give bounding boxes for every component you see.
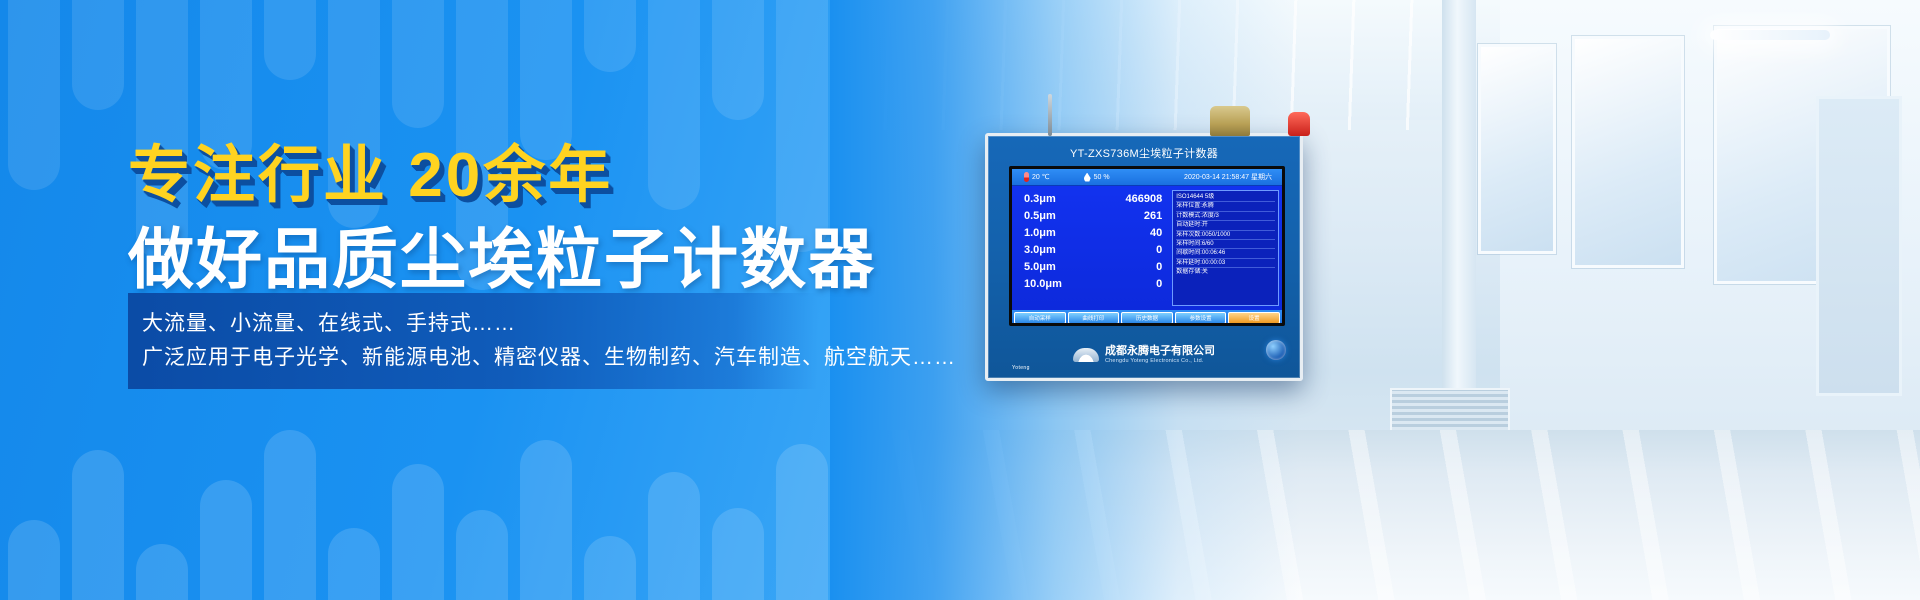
- headline-primary: 专注行业 20余年: [128, 124, 613, 214]
- subtitle-bar: 大流量、小流量、在线式、手持式…… 广泛应用于电子光学、新能源电池、精密仪器、生…: [128, 293, 818, 389]
- channel-size: 3.0μm: [1024, 244, 1096, 256]
- headline-secondary: 做好品质尘埃粒子计数器: [128, 206, 876, 302]
- channel-size: 5.0μm: [1024, 261, 1096, 273]
- channel-value: 40: [1096, 227, 1170, 239]
- yoteng-logo-icon: [1073, 348, 1099, 362]
- screen-button-curve-print[interactable]: 曲线打印: [1068, 312, 1120, 324]
- alarm-lamp-icon: [1288, 112, 1310, 136]
- water-drop-icon: [1084, 173, 1091, 182]
- humidity-status: 50 %: [1084, 173, 1110, 182]
- device-brand: 成都永腾电子有限公司 Chengdu Yoteng Electronics Co…: [988, 345, 1300, 364]
- temperature-status: 20 ℃: [1024, 172, 1050, 182]
- humidity-value: 50 %: [1094, 174, 1110, 181]
- brand-text-block: 成都永腾电子有限公司 Chengdu Yoteng Electronics Co…: [1105, 345, 1215, 364]
- device-screen[interactable]: 20 ℃ 50 % 2020-03-14 21:58:47 星期六 0.3μm …: [1009, 166, 1285, 326]
- channel-value: 0: [1096, 278, 1170, 290]
- hero-banner: 专注行业 20余年 做好品质尘埃粒子计数器 大流量、小流量、在线式、手持式…… …: [0, 0, 1920, 600]
- device-model-title: YT-ZXS736M尘埃粒子计数器: [988, 145, 1300, 161]
- screen-button-auto-sample[interactable]: 自动采样: [1014, 312, 1066, 324]
- photo-ceiling-lamp: [1710, 30, 1830, 40]
- channel-value: 466908: [1096, 193, 1170, 205]
- temperature-value: 20 ℃: [1032, 173, 1050, 181]
- parameter-row: 采样时间:6/60: [1176, 240, 1275, 249]
- brand-name-cn: 成都永腾电子有限公司: [1105, 345, 1215, 358]
- sensor-probe-icon: [1210, 106, 1250, 136]
- antenna-icon: [1048, 94, 1052, 136]
- photo-door-frame: [1816, 96, 1902, 396]
- channel-row: 0.3μm 466908: [1024, 193, 1170, 210]
- parameter-row: 计数模式:浓度/฀3: [1176, 212, 1275, 221]
- parameter-panel: ISO14644 5级 采样位置:永腾 计数模式:浓度/฀3 自动延时:开 采样…: [1172, 190, 1279, 306]
- datetime-status: 2020-03-14 21:58:47 星期六: [1184, 172, 1272, 182]
- screen-button-history-data[interactable]: 历史数据: [1121, 312, 1173, 324]
- channel-row: 5.0μm 0: [1024, 261, 1170, 278]
- channel-value: 0: [1096, 261, 1170, 273]
- brand-logo-text: Yoteng: [1012, 365, 1030, 371]
- parameter-row: 间歇时间:00:06:46: [1176, 249, 1275, 258]
- screen-status-bar: 20 ℃ 50 % 2020-03-14 21:58:47 星期六: [1012, 169, 1282, 186]
- channel-row: 1.0μm 40: [1024, 227, 1170, 244]
- channel-value: 0: [1096, 244, 1170, 256]
- parameter-row: 采样延时:00:00:03: [1176, 259, 1275, 268]
- screen-button-parameter-config[interactable]: 参数设置: [1175, 312, 1227, 324]
- parameter-row: 数据存储:关: [1176, 268, 1275, 276]
- channel-size: 0.3μm: [1024, 193, 1096, 205]
- screen-button-bar: 自动采样 曲线打印 历史数据 参数设置 设置: [1012, 310, 1282, 326]
- channel-value: 261: [1096, 210, 1170, 222]
- subtitle-line-1: 大流量、小流量、在线式、手持式……: [142, 307, 818, 341]
- brand-name-en: Chengdu Yoteng Electronics Co., Ltd.: [1105, 358, 1215, 364]
- parameter-row: ISO14644 5级: [1176, 193, 1275, 202]
- particle-counter-device: YT-ZXS736M尘埃粒子计数器 20 ℃ 50 % 2020-03-14 2…: [985, 133, 1303, 381]
- subtitle-line-2: 广泛应用于电子光学、新能源电池、精密仪器、生物制药、汽车制造、航空航天……: [142, 341, 818, 375]
- power-indicator-icon: [1266, 340, 1286, 360]
- channel-row: 3.0μm 0: [1024, 244, 1170, 261]
- parameter-row: 自动延时:开: [1176, 221, 1275, 230]
- screen-body: 0.3μm 466908 0.5μm 261 1.0μm 40 3.0μm 0: [1012, 186, 1282, 310]
- parameter-row: 采样次数:0050/1000: [1176, 231, 1275, 240]
- thermometer-icon: [1024, 172, 1029, 182]
- channel-row: 0.5μm 261: [1024, 210, 1170, 227]
- screen-button-settings[interactable]: 设置: [1228, 312, 1280, 324]
- channel-size: 0.5μm: [1024, 210, 1096, 222]
- particle-channel-list: 0.3μm 466908 0.5μm 261 1.0μm 40 3.0μm 0: [1012, 186, 1170, 310]
- photo-window: [1478, 44, 1556, 254]
- channel-size: 10.0μm: [1024, 278, 1096, 290]
- photo-window: [1572, 36, 1684, 268]
- channel-size: 1.0μm: [1024, 227, 1096, 239]
- parameter-row: 采样位置:永腾: [1176, 202, 1275, 211]
- channel-row: 10.0μm 0: [1024, 278, 1170, 295]
